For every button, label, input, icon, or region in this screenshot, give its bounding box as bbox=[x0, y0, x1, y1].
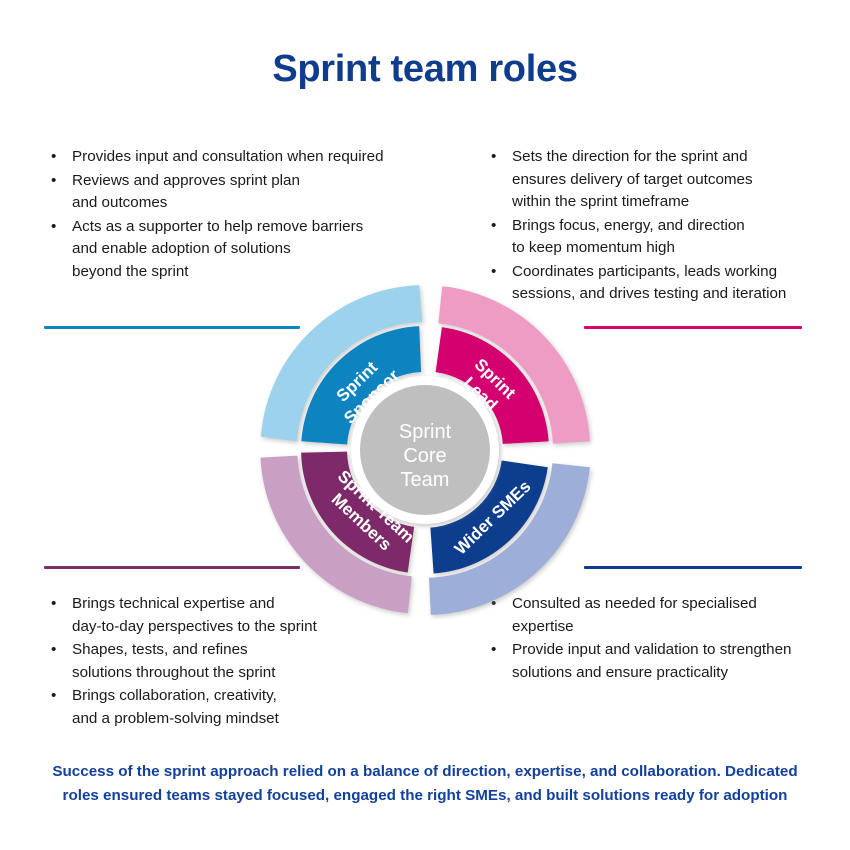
list-item-text: Brings collaboration, creativity, and a … bbox=[72, 687, 279, 727]
list-item: •Shapes, tests, and refines solutions th… bbox=[44, 639, 404, 684]
bullet-icon: • bbox=[51, 685, 56, 708]
bullet-icon: • bbox=[51, 216, 56, 239]
bullet-icon: • bbox=[491, 639, 496, 662]
list-item-text: Provide input and validation to strength… bbox=[512, 641, 791, 681]
bullet-list: •Provides input and consultation when re… bbox=[44, 146, 444, 283]
wheel-hub-label-line3: Team bbox=[401, 469, 450, 491]
bullet-icon: • bbox=[51, 593, 56, 616]
list-item: •Brings focus, energy, and direction to … bbox=[484, 215, 834, 260]
list-item: •Reviews and approves sprint plan and ou… bbox=[44, 170, 444, 215]
footer-summary: Success of the sprint approach relied on… bbox=[45, 760, 805, 808]
list-item-text: Shapes, tests, and refines solutions thr… bbox=[72, 641, 275, 681]
page-title: Sprint team roles bbox=[0, 48, 850, 91]
bullet-list-sprint-sponsor: •Provides input and consultation when re… bbox=[44, 146, 444, 284]
list-item-text: Sets the direction for the sprint and en… bbox=[512, 148, 753, 210]
list-item: •Provides input and consultation when re… bbox=[44, 146, 444, 169]
divider-wider-smes bbox=[584, 566, 802, 569]
wheel-hub-label-line2: Core bbox=[403, 445, 446, 467]
divider-sprint-lead bbox=[584, 326, 802, 329]
list-item-text: Brings focus, energy, and direction to k… bbox=[512, 217, 745, 257]
footer-line-1: Success of the sprint approach relied on… bbox=[45, 760, 805, 784]
list-item: •Sets the direction for the sprint and e… bbox=[484, 146, 834, 214]
list-item-text: Provides input and consultation when req… bbox=[72, 148, 384, 165]
wheel-hub-label-line1: Sprint bbox=[399, 421, 452, 443]
list-item: •Provide input and validation to strengt… bbox=[484, 639, 834, 684]
list-item-text: Reviews and approves sprint plan and out… bbox=[72, 172, 300, 212]
bullet-icon: • bbox=[491, 146, 496, 169]
sprint-team-roles-wheel: Sprint Core Team Sprint Sponsor Sprint L… bbox=[255, 280, 595, 620]
list-item: •Acts as a supporter to help remove barr… bbox=[44, 216, 444, 284]
bullet-icon: • bbox=[491, 215, 496, 238]
list-item: •Brings collaboration, creativity, and a… bbox=[44, 685, 404, 730]
bullet-icon: • bbox=[51, 639, 56, 662]
bullet-icon: • bbox=[51, 146, 56, 169]
footer-line-2: roles ensured teams stayed focused, enga… bbox=[45, 784, 805, 808]
list-item-text: Acts as a supporter to help remove barri… bbox=[72, 218, 363, 280]
bullet-icon: • bbox=[51, 170, 56, 193]
